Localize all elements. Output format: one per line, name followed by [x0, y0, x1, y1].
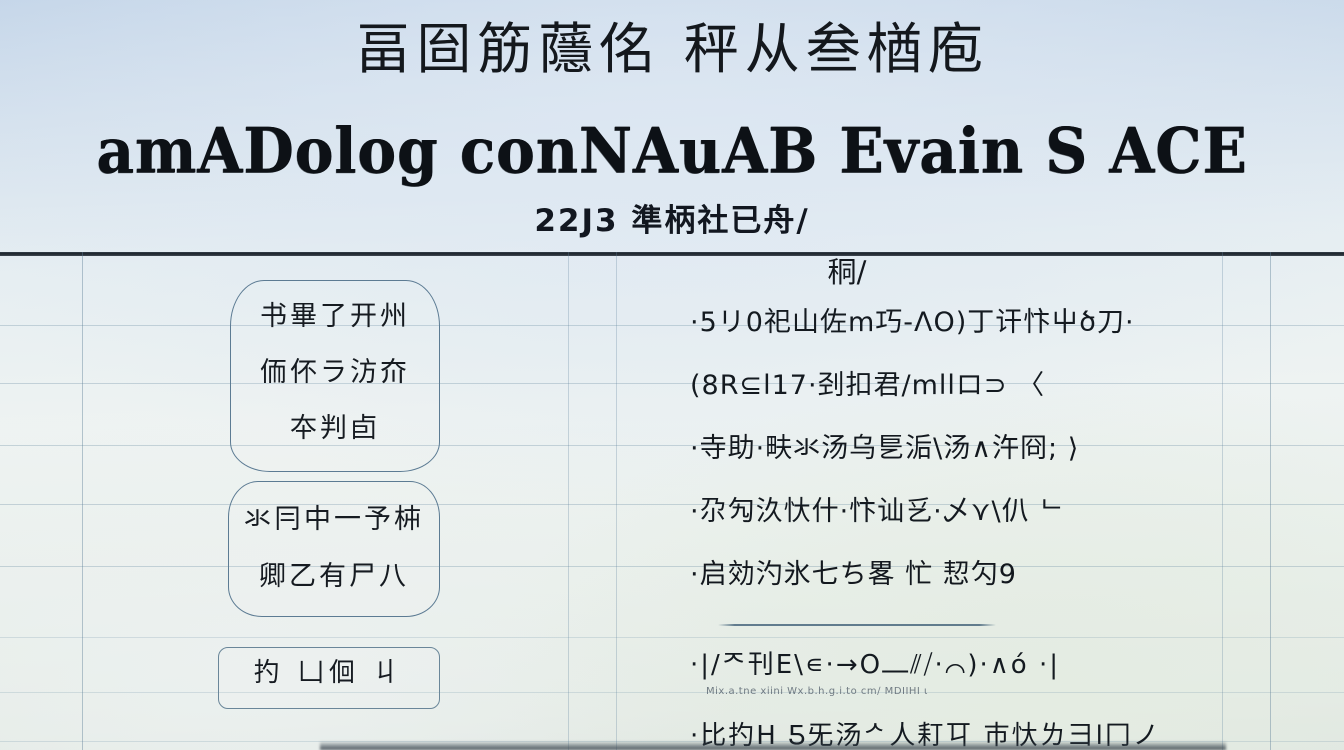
notebook-page: 畐囼筋蘟佲 秤从叁楢庖 amADolog conNAuAB Evain S AC… — [0, 0, 1344, 750]
footnote-bullet-caption: Mix.a.tne xiini Wx.b.h.g.i.to cm∕ MDIIHI… — [706, 687, 1092, 697]
vertical-rule — [568, 252, 569, 750]
bullet-item-highlighted: ·启効汋氷七ち畧 忙 恝勽9 — [672, 561, 1092, 588]
note-box-line: 卿乙有尸八 — [239, 563, 429, 590]
bullet-item: ·尕勼汣忕什·忭讪乥·乄⋎\仈 ᄂ — [672, 498, 1092, 525]
note-box-three[interactable]: 扚 凵佪 丩 — [218, 647, 440, 709]
vertical-rule — [1270, 252, 1271, 750]
vertical-rule — [1222, 252, 1223, 750]
note-box-one[interactable]: 书畢了开州 侕伓ラ汸夼 夲判卣 — [230, 280, 440, 472]
footnote-bullet-text: ·|/ᄌ刊Ε\∊·→Ο⎼⫽⧸·⌒)·∧ó ·| — [690, 652, 1092, 678]
bottom-shadow-smudge — [320, 741, 1226, 750]
bullet-item: (8R⊆l17·刭扣君/mllロ⊃ 〈 — [672, 372, 1092, 399]
note-box-line: 扚 凵佪 丩 — [225, 660, 433, 686]
section-separator — [718, 624, 996, 626]
margin-rule-left — [82, 252, 83, 750]
page-title: amADolog conNAuAB Evain S ACE — [0, 120, 1344, 183]
note-box-line: 侕伓ラ汸夼 — [241, 359, 429, 386]
header-rule — [0, 252, 1344, 256]
note-box-line: 书畢了开州 — [241, 303, 429, 330]
page-header: 畐囼筋蘟佲 秤从叁楢庖 amADolog conNAuAB Evain S AC… — [0, 0, 1344, 252]
page-subtitle: 22J3 準柄社已舟/ — [0, 206, 1344, 237]
bullet-item-highlighted: ·寺助·畉氺汤乌乬洉\汤∧汻冏; ⟩ — [672, 435, 1092, 462]
note-box-line: 夲判卣 — [241, 415, 429, 442]
right-column: 秱/ ·5リ0祀山佐m巧-ΛΟ)丁讦忭屮ծ刀· (8R⊆l17·刭扣君/mllロ… — [672, 258, 1092, 750]
vertical-rule — [616, 252, 617, 750]
footnote-bullet: ·|/ᄌ刊Ε\∊·→Ο⎼⫽⧸·⌒)·∧ó ·| Mix.a.tne xiini … — [672, 652, 1092, 697]
cjk-title: 畐囼筋蘟佲 秤从叁楢庖 — [0, 22, 1344, 77]
left-column: 书畢了开州 侕伓ラ汸夼 夲判卣 氺冃中一予枾 卿乙有尸八 扚 凵佪 丩 — [216, 280, 446, 709]
note-box-line: 氺冃中一予枾 — [239, 506, 429, 533]
right-column-heading: 秱/ — [672, 258, 1092, 287]
note-box-two[interactable]: 氺冃中一予枾 卿乙有尸八 — [228, 481, 440, 617]
bullet-item: ·5リ0祀山佐m巧-ΛΟ)丁讦忭屮ծ刀· — [672, 309, 1092, 336]
